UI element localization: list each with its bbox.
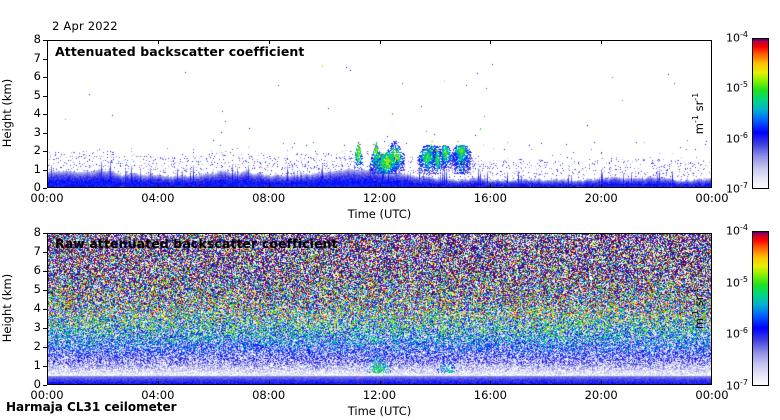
x-tick-mark xyxy=(269,184,270,188)
x-tick-label: 08:00 xyxy=(243,191,295,205)
x-tick-label: 20:00 xyxy=(575,191,627,205)
top-colorbar-label: m-1 sr-1 xyxy=(691,37,706,188)
y-tick-label: 2 xyxy=(13,339,41,353)
y-tick-mark xyxy=(43,40,47,41)
y-tick-mark xyxy=(43,133,47,134)
y-tick-mark xyxy=(43,309,47,310)
y-tick-label: 4 xyxy=(13,106,41,120)
date-label: 2 Apr 2022 xyxy=(52,19,118,33)
top-colorbar-gradient xyxy=(753,39,769,189)
x-tick-mark xyxy=(158,40,159,44)
y-tick-mark xyxy=(43,385,47,386)
bottom-heatmap-canvas xyxy=(48,234,712,385)
y-tick-mark xyxy=(43,170,47,171)
y-tick-label: 3 xyxy=(13,320,41,334)
y-tick-mark xyxy=(43,290,47,291)
y-tick-mark xyxy=(43,114,47,115)
y-tick-label: 1 xyxy=(13,162,41,176)
bottom-colorbar-label: m-1 sr-1 xyxy=(691,230,706,385)
x-tick-mark xyxy=(158,233,159,237)
top-y-axis-label: Height (km) xyxy=(0,39,14,187)
bottom-colorbar xyxy=(752,231,769,386)
x-tick-mark xyxy=(158,381,159,385)
bottom-colorbar-gradient xyxy=(753,232,769,386)
x-tick-label: 20:00 xyxy=(575,388,627,402)
y-tick-label: 3 xyxy=(13,125,41,139)
top-plot-area xyxy=(47,40,712,188)
y-tick-label: 8 xyxy=(13,225,41,239)
x-tick-mark xyxy=(601,233,602,237)
y-tick-label: 4 xyxy=(13,301,41,315)
x-tick-mark xyxy=(269,40,270,44)
x-tick-mark xyxy=(490,381,491,385)
y-tick-mark xyxy=(43,366,47,367)
y-tick-mark xyxy=(43,233,47,234)
x-tick-mark xyxy=(490,233,491,237)
x-tick-label: 12:00 xyxy=(354,191,406,205)
colorbar-tick-label: 10-4 xyxy=(712,30,748,45)
colorbar-tick-label: 10-5 xyxy=(712,80,748,95)
y-tick-label: 1 xyxy=(13,358,41,372)
y-tick-mark xyxy=(43,96,47,97)
y-tick-label: 7 xyxy=(13,51,41,65)
x-tick-mark xyxy=(380,40,381,44)
y-tick-label: 5 xyxy=(13,88,41,102)
x-tick-mark xyxy=(490,184,491,188)
x-tick-label: 16:00 xyxy=(464,191,516,205)
y-tick-mark xyxy=(43,252,47,253)
x-tick-mark xyxy=(601,40,602,44)
x-tick-mark xyxy=(490,40,491,44)
x-tick-label: 04:00 xyxy=(132,191,184,205)
x-tick-mark xyxy=(158,184,159,188)
x-tick-mark xyxy=(380,381,381,385)
colorbar-tick-label: 10-5 xyxy=(712,275,748,290)
y-tick-label: 6 xyxy=(13,69,41,83)
colorbar-tick-label: 10-4 xyxy=(712,223,748,238)
x-tick-label: 00:00 xyxy=(21,191,73,205)
x-tick-mark xyxy=(380,233,381,237)
x-tick-mark xyxy=(380,184,381,188)
y-tick-label: 6 xyxy=(13,263,41,277)
x-tick-mark xyxy=(269,381,270,385)
y-tick-mark xyxy=(43,59,47,60)
top-colorbar xyxy=(752,38,769,189)
bottom-x-axis-label: Time (UTC) xyxy=(320,404,440,418)
x-tick-label: 08:00 xyxy=(243,388,295,402)
x-tick-mark xyxy=(601,381,602,385)
y-tick-mark xyxy=(43,271,47,272)
y-tick-label: 7 xyxy=(13,244,41,258)
colorbar-tick-label: 10-7 xyxy=(712,378,748,393)
y-tick-label: 5 xyxy=(13,282,41,296)
y-tick-mark xyxy=(43,151,47,152)
top-heatmap-canvas xyxy=(48,41,712,188)
colorbar-tick-label: 10-6 xyxy=(712,326,748,341)
bottom-plot-title: Raw attenuated backscatter coefficient xyxy=(55,236,338,251)
bottom-plot-area xyxy=(47,233,712,385)
x-tick-label: 12:00 xyxy=(354,388,406,402)
instrument-footer: Harmaja CL31 ceilometer xyxy=(6,400,177,414)
colorbar-tick-label: 10-6 xyxy=(712,131,748,146)
x-tick-mark xyxy=(269,233,270,237)
y-tick-mark xyxy=(43,188,47,189)
colorbar-tick-label: 10-7 xyxy=(712,181,748,196)
x-tick-label: 16:00 xyxy=(464,388,516,402)
y-tick-label: 2 xyxy=(13,143,41,157)
bottom-y-axis-label: Height (km) xyxy=(0,232,14,384)
y-tick-mark xyxy=(43,77,47,78)
y-tick-mark xyxy=(43,347,47,348)
top-plot-title: Attenuated backscatter coefficient xyxy=(55,44,305,59)
y-tick-mark xyxy=(43,328,47,329)
top-x-axis-label: Time (UTC) xyxy=(320,207,440,221)
ceilometer-figure: 2 Apr 2022 Attenuated backscatter coeffi… xyxy=(0,0,780,420)
x-tick-mark xyxy=(601,184,602,188)
y-tick-label: 8 xyxy=(13,32,41,46)
